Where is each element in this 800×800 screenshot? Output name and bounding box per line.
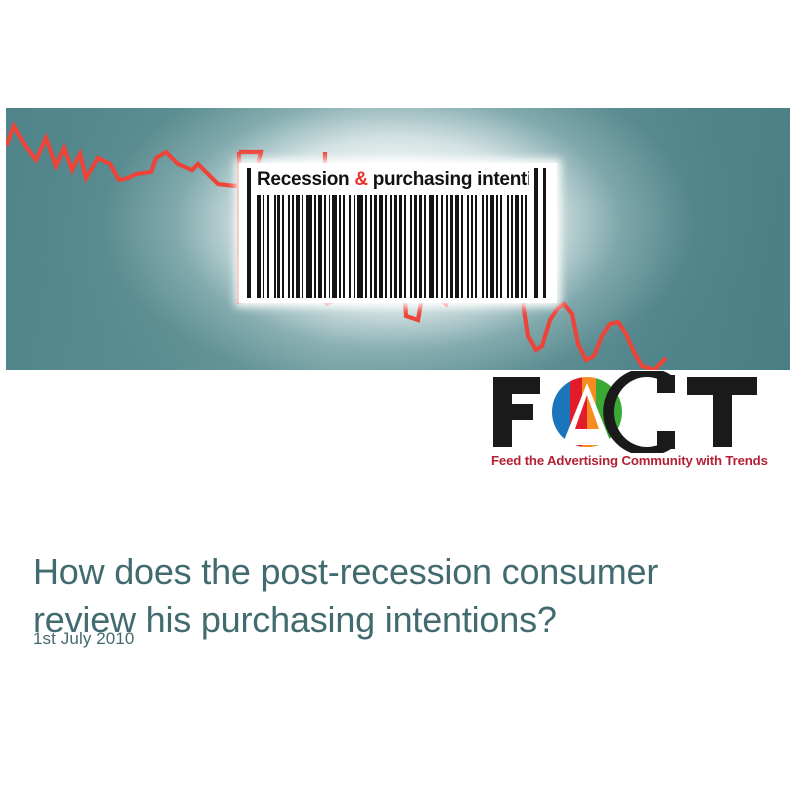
barcode-title-before: Recession [257, 169, 354, 190]
barcode-bar [527, 195, 529, 298]
barcode-guard-bar-right-inner [534, 168, 538, 298]
trendline-left [6, 126, 261, 186]
barcode-guard-bar-right-outer [543, 168, 546, 298]
fact-tagline: Feed the Advertising Community with Tren… [491, 453, 791, 468]
page-title-line-2: review his purchasing intentions? [33, 596, 763, 644]
barcode-guard-bar-left [247, 168, 251, 298]
recession-banner: Recession & purchasing intention [6, 108, 790, 370]
barcode-title-after: purchasing intention [368, 169, 529, 190]
fact-logo: Feed the Advertising Community with Tren… [489, 371, 791, 476]
page-title: How does the post-recession consumer rev… [33, 548, 763, 644]
barcode-title-text: Recession & purchasing intention [257, 168, 529, 192]
barcode-bars [257, 195, 529, 298]
fact-wordmark [489, 371, 791, 453]
fact-letter-f [493, 377, 540, 447]
fact-letter-c [603, 371, 675, 453]
barcode-title-ampersand: & [354, 169, 367, 190]
title-slide: Recession & purchasing intention [0, 0, 800, 800]
fact-wordmark-svg [489, 371, 791, 453]
fact-letter-t [687, 377, 757, 447]
barcode-graphic: Recession & purchasing intention [239, 163, 557, 303]
page-title-line-1: How does the post-recession consumer [33, 548, 763, 596]
presentation-date: 1st July 2010 [33, 629, 134, 649]
